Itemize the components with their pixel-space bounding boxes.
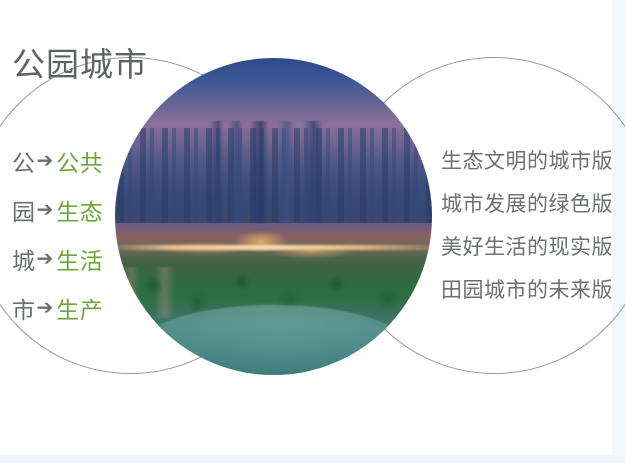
tower-cluster — [210, 121, 343, 222]
mapping-to: 公共 — [56, 144, 103, 178]
arrow-right-icon: ➔ — [37, 200, 54, 220]
page-title: 公园城市 — [12, 44, 182, 86]
mapping-list: 公 ➔ 公共 园 ➔ 生态 城 ➔ 生活 市 ➔ 生产 — [12, 136, 187, 332]
mapping-from: 城 — [12, 242, 36, 276]
mapping-row: 公 ➔ 公共 — [12, 136, 187, 185]
mapping-from: 园 — [12, 193, 36, 227]
mapping-from: 市 — [12, 291, 36, 325]
description-line: 美好生活的现实版 — [441, 224, 619, 267]
mapping-row: 市 ➔ 生产 — [12, 283, 187, 332]
arrow-right-icon: ➔ — [37, 249, 54, 269]
description-line: 城市发展的绿色版 — [441, 181, 619, 224]
mapping-row: 园 ➔ 生态 — [12, 185, 187, 234]
title-block: 公园城市 — [12, 44, 182, 86]
mapping-from: 公 — [12, 144, 36, 178]
description-line: 田园城市的未来版 — [441, 267, 619, 310]
slide-canvas: 公园城市 公 ➔ 公共 园 ➔ 生态 城 ➔ 生活 市 ➔ 生产 生态文明的城市… — [0, 0, 625, 463]
description-line: 生态文明的城市版 — [441, 138, 619, 181]
arrow-right-icon: ➔ — [37, 298, 54, 318]
mapping-to: 生态 — [56, 193, 103, 227]
arrow-right-icon: ➔ — [37, 151, 54, 171]
mapping-row: 城 ➔ 生活 — [12, 234, 187, 283]
description-list: 生态文明的城市版 城市发展的绿色版 美好生活的现实版 田园城市的未来版 — [441, 138, 619, 310]
mapping-to: 生活 — [56, 242, 103, 276]
mapping-to: 生产 — [56, 291, 103, 325]
